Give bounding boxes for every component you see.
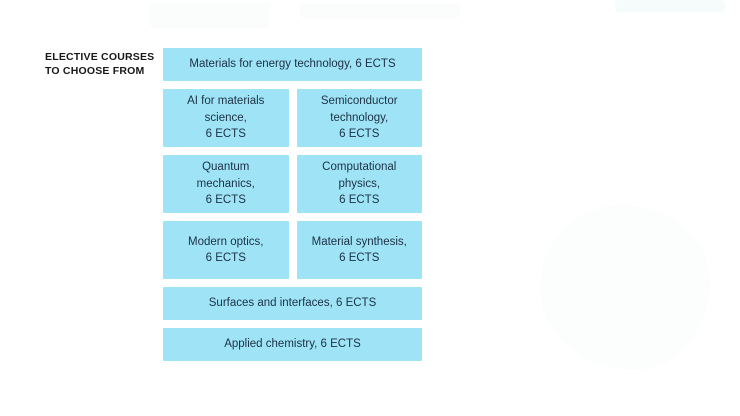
course-label-line-2: physics, <box>322 176 396 193</box>
course-label-line-1: AI for materials <box>187 93 264 110</box>
course-grid: Materials for energy technology, 6 ECTS … <box>163 48 422 361</box>
section-title-line-2: TO CHOOSE FROM <box>45 64 157 78</box>
course-label-line-1: Material synthesis, <box>312 234 407 251</box>
course-box-ai-for-materials-science[interactable]: AI for materials science, 6 ECTS <box>163 89 289 147</box>
course-label-line-2: mechanics, <box>197 176 255 193</box>
course-box-materials-for-energy-technology[interactable]: Materials for energy technology, 6 ECTS <box>163 48 422 81</box>
course-label-line-1: Semiconductor <box>321 93 398 110</box>
course-box-quantum-mechanics[interactable]: Quantum mechanics, 6 ECTS <box>163 155 289 213</box>
course-label-line-1: Quantum <box>197 159 255 176</box>
elective-courses-board: ELECTIVE COURSES TO CHOOSE FROM Material… <box>0 0 740 416</box>
course-box-surfaces-and-interfaces[interactable]: Surfaces and interfaces, 6 ECTS <box>163 287 422 320</box>
course-label: Surfaces and interfaces, 6 ECTS <box>209 295 376 312</box>
course-label: Materials for energy technology, 6 ECTS <box>189 56 395 73</box>
course-label-line-2: technology, <box>321 110 398 127</box>
background-artifact-top-right <box>615 0 725 12</box>
background-artifact-top-left <box>150 2 270 28</box>
course-row-5: Surfaces and interfaces, 6 ECTS <box>163 287 422 320</box>
course-row-1: Materials for energy technology, 6 ECTS <box>163 48 422 81</box>
course-label-line-3: 6 ECTS <box>322 192 396 209</box>
course-label: AI for materials science, 6 ECTS <box>187 93 264 143</box>
course-label-line-2: 6 ECTS <box>188 250 263 267</box>
course-label: Applied chemistry, 6 ECTS <box>224 336 361 353</box>
course-box-semiconductor-technology[interactable]: Semiconductor technology, 6 ECTS <box>297 89 423 147</box>
section-title-line-1: ELECTIVE COURSES <box>45 50 157 64</box>
course-box-applied-chemistry[interactable]: Applied chemistry, 6 ECTS <box>163 328 422 361</box>
course-row-6: Applied chemistry, 6 ECTS <box>163 328 422 361</box>
course-box-computational-physics[interactable]: Computational physics, 6 ECTS <box>297 155 423 213</box>
course-label: Modern optics, 6 ECTS <box>188 234 263 267</box>
course-label-line-2: 6 ECTS <box>312 250 407 267</box>
course-label-line-1: Computational <box>322 159 396 176</box>
course-label-line-3: 6 ECTS <box>197 192 255 209</box>
section-title: ELECTIVE COURSES TO CHOOSE FROM <box>45 50 157 78</box>
course-label-line-3: 6 ECTS <box>321 126 398 143</box>
background-artifact-top-middle <box>300 4 460 18</box>
course-label: Quantum mechanics, 6 ECTS <box>197 159 255 209</box>
course-label: Semiconductor technology, 6 ECTS <box>321 93 398 143</box>
course-label: Computational physics, 6 ECTS <box>322 159 396 209</box>
course-row-3: Quantum mechanics, 6 ECTS Computational … <box>163 155 422 213</box>
course-row-2: AI for materials science, 6 ECTS Semicon… <box>163 89 422 147</box>
course-label: Material synthesis, 6 ECTS <box>312 234 407 267</box>
course-label-line-3: 6 ECTS <box>187 126 264 143</box>
course-label-line-1: Modern optics, <box>188 234 263 251</box>
course-row-4: Modern optics, 6 ECTS Material synthesis… <box>163 221 422 279</box>
background-watermark-shape <box>540 205 710 370</box>
course-box-modern-optics[interactable]: Modern optics, 6 ECTS <box>163 221 289 279</box>
course-box-material-synthesis[interactable]: Material synthesis, 6 ECTS <box>297 221 423 279</box>
course-label-line-2: science, <box>187 110 264 127</box>
